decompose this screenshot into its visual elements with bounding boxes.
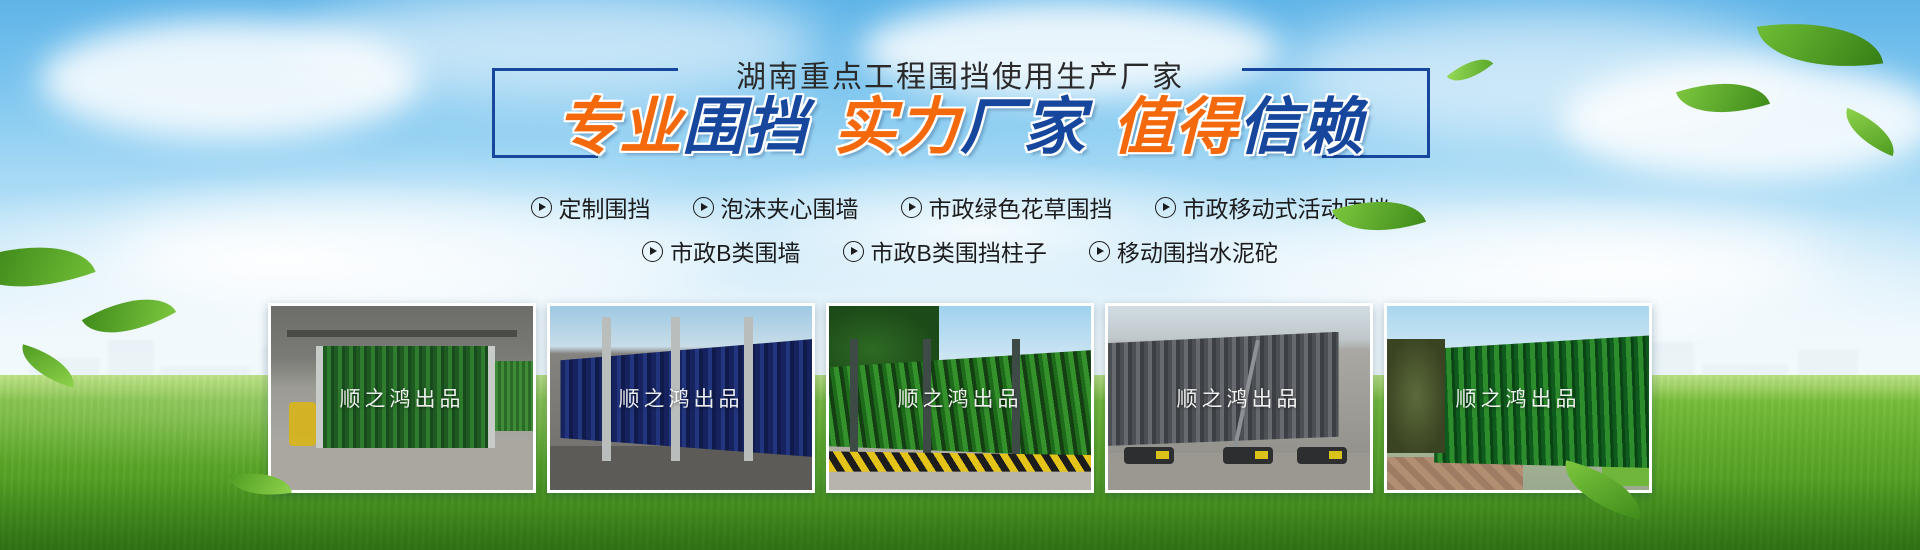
headline-part-3: 实力 (834, 92, 960, 164)
play-triangle-circle-icon (642, 241, 663, 262)
product-photo[interactable]: 顺之鸿出品 (1384, 303, 1652, 493)
feature-label: 移动围挡水泥砣 (1117, 234, 1278, 268)
headline-part-2: 围挡 (682, 92, 808, 164)
headline-part-1: 专业 (556, 92, 682, 164)
feature-label: 市政B类围墙 (670, 234, 800, 268)
feature-label: 定制围挡 (559, 190, 651, 224)
feature-row-1: 定制围挡 泡沫夹心围墙 市政绿色花草围挡 市政移动式活动围挡 (0, 190, 1920, 224)
headline-part-5: 值得 (1112, 92, 1238, 164)
feature-item[interactable]: 市政B类围挡柱子 (843, 234, 1047, 268)
promo-banner: 湖南重点工程围挡使用生产厂家 专业围挡实力厂家值得信赖 定制围挡 泡沫夹心围墙 … (0, 0, 1920, 550)
headline-part-4: 厂家 (960, 92, 1086, 164)
headline-part-6: 信赖 (1238, 92, 1364, 164)
feature-label: 泡沫夹心围墙 (721, 190, 859, 224)
product-photo[interactable]: 顺之鸿出品 (1105, 303, 1373, 493)
play-triangle-circle-icon (531, 197, 552, 218)
feature-label: 市政绿色花草围挡 (929, 190, 1113, 224)
headline-block: 湖南重点工程围挡使用生产厂家 专业围挡实力厂家值得信赖 定制围挡 泡沫夹心围墙 … (0, 0, 1920, 300)
feature-label: 市政B类围挡柱子 (871, 234, 1047, 268)
feature-item[interactable]: 移动围挡水泥砣 (1089, 234, 1278, 268)
feature-item[interactable]: 泡沫夹心围墙 (693, 190, 859, 224)
feature-row-2: 市政B类围墙 市政B类围挡柱子 移动围挡水泥砣 (0, 234, 1920, 268)
play-triangle-circle-icon (1089, 241, 1110, 262)
product-photo-strip: 顺之鸿出品 顺之鸿出品 顺之鸿出品 顺之鸿出品 (0, 303, 1920, 493)
play-triangle-circle-icon (693, 197, 714, 218)
product-photo[interactable]: 顺之鸿出品 (826, 303, 1094, 493)
feature-item[interactable]: 定制围挡 (531, 190, 651, 224)
product-photo[interactable]: 顺之鸿出品 (268, 303, 536, 493)
banner-subtitle: 湖南重点工程围挡使用生产厂家 (0, 52, 1920, 96)
product-photo[interactable]: 顺之鸿出品 (547, 303, 815, 493)
feature-list: 定制围挡 泡沫夹心围墙 市政绿色花草围挡 市政移动式活动围挡 (0, 190, 1920, 278)
play-triangle-circle-icon (1155, 197, 1176, 218)
play-triangle-circle-icon (843, 241, 864, 262)
play-triangle-circle-icon (901, 197, 922, 218)
feature-item[interactable]: 市政绿色花草围挡 (901, 190, 1113, 224)
banner-headline: 专业围挡实力厂家值得信赖 (0, 92, 1920, 164)
feature-item[interactable]: 市政B类围墙 (642, 234, 800, 268)
